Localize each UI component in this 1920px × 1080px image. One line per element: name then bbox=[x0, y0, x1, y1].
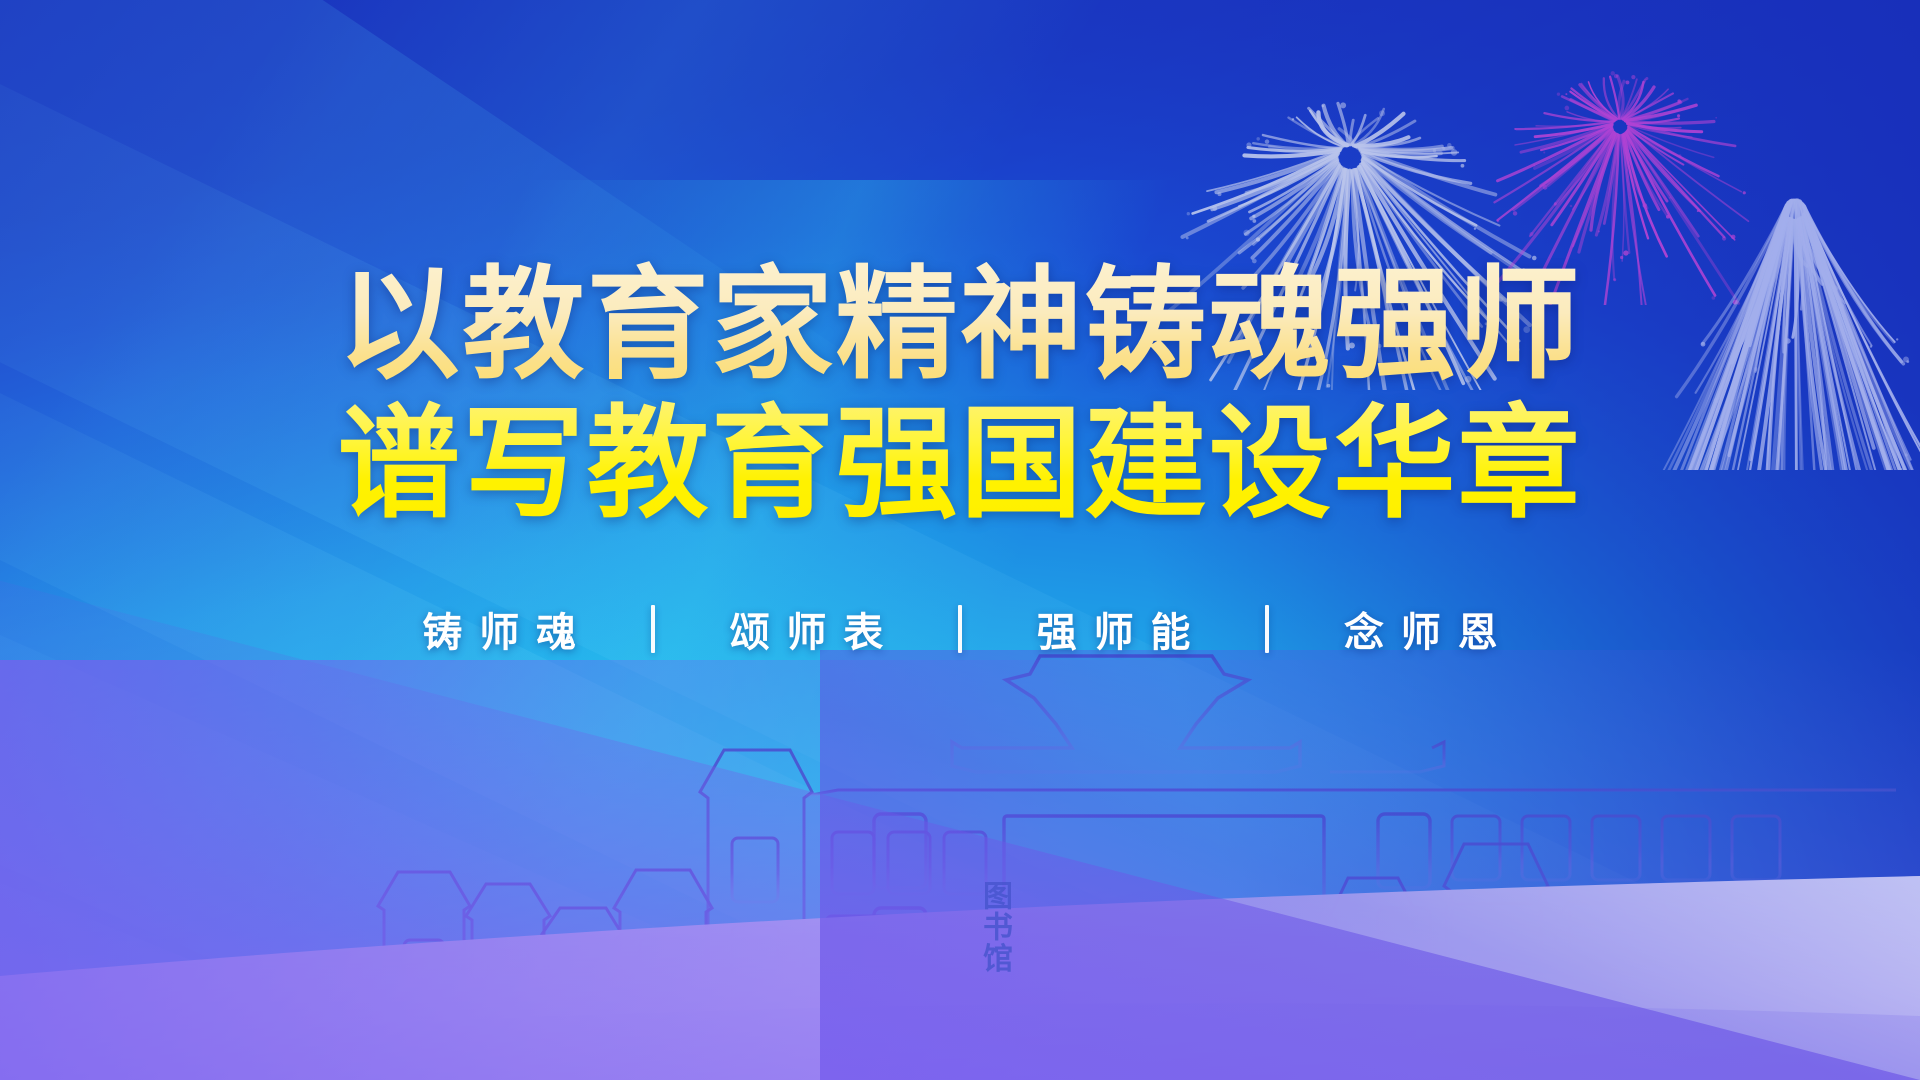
title-line-1: 以教育家精神铸魂强师 bbox=[0, 250, 1920, 399]
banner-title: 以教育家精神铸魂强师 谱写教育强国建设华章 bbox=[0, 250, 1920, 538]
subtitle-separator-3 bbox=[1265, 605, 1269, 653]
subtitle-separator-1 bbox=[651, 605, 655, 653]
title-line-2: 谱写教育强国建设华章 bbox=[0, 389, 1920, 538]
banner-subtitle: 铸师魂 颂师表 强师能 念师恩 bbox=[0, 600, 1920, 658]
subtitle-item-2: 颂师表 bbox=[707, 600, 906, 658]
subtitle-item-1: 铸师魂 bbox=[400, 600, 599, 658]
banner-canvas: 以教育家精神铸魂强师 谱写教育强国建设华章 铸师魂 颂师表 强师能 念师恩 图书… bbox=[0, 0, 1920, 1080]
subtitle-item-3: 强师能 bbox=[1014, 600, 1213, 658]
subtitle-item-4: 念师恩 bbox=[1321, 600, 1520, 658]
library-sign-text: 图书馆 bbox=[952, 880, 1012, 974]
subtitle-separator-2 bbox=[958, 605, 962, 653]
